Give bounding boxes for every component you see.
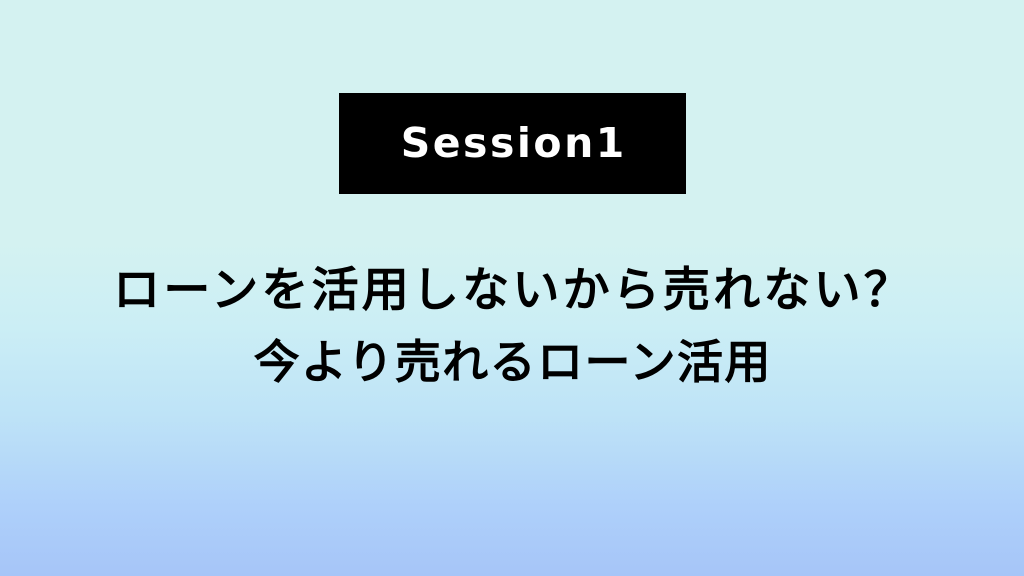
headline-line-primary: ローンを活用しないから売れない？	[0, 262, 1024, 320]
session-badge: Session1	[339, 93, 686, 194]
slide-headline: ローンを活用しないから売れない？ 今より売れるローン活用	[0, 262, 1024, 390]
headline-line-secondary: 今より売れるローン活用	[0, 334, 1024, 390]
presentation-slide: Session1 ローンを活用しないから売れない？ 今より売れるローン活用	[0, 0, 1024, 576]
session-badge-label: Session1	[398, 123, 627, 164]
